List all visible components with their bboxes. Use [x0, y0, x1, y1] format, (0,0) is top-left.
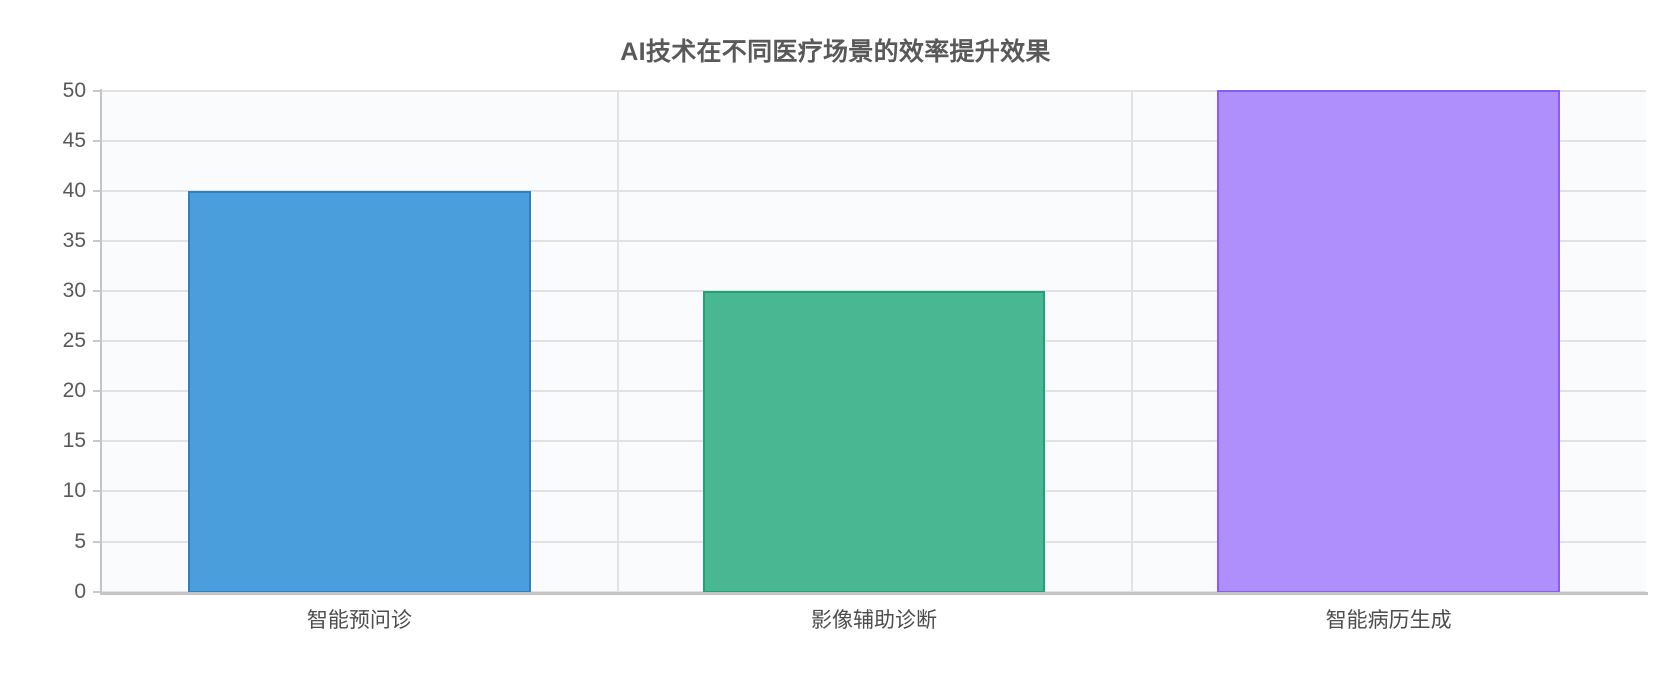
x-axis-spine [100, 592, 1648, 595]
y-tick-label-45: 45 [26, 130, 86, 151]
y-tick-mark-25 [93, 340, 101, 342]
plot-area [102, 90, 1646, 593]
y-tick-label-15: 15 [26, 430, 86, 451]
y-tick-mark-15 [93, 440, 101, 442]
x-tick-label-2: 智能病历生成 [1189, 604, 1589, 634]
bar-0[interactable] [188, 191, 531, 593]
chart-figure: AI技术在不同医疗场景的效率提升效果 效率提升百分比(%) 0 5 10 [0, 0, 1671, 685]
y-tick-mark-35 [93, 240, 101, 242]
y-tick-label-10: 10 [26, 480, 86, 501]
y-tick-label-50: 50 [26, 80, 86, 101]
bar-2[interactable] [1217, 90, 1560, 593]
gridline-x-2 [1131, 90, 1133, 593]
y-tick-mark-0 [93, 591, 101, 593]
x-tick-label-1: 影像辅助诊断 [674, 604, 1074, 634]
x-tick-label-0: 智能预问诊 [159, 604, 559, 634]
y-tick-label-25: 25 [26, 330, 86, 351]
y-tick-mark-30 [93, 290, 101, 292]
gridline-x-1 [617, 90, 619, 593]
bar-1[interactable] [703, 291, 1046, 593]
y-tick-mark-20 [93, 390, 101, 392]
y-tick-mark-50 [93, 90, 101, 92]
y-tick-label-5: 5 [26, 531, 86, 552]
y-tick-mark-5 [93, 541, 101, 543]
y-tick-label-30: 30 [26, 280, 86, 301]
y-tick-label-40: 40 [26, 180, 86, 201]
y-tick-label-0: 0 [26, 581, 86, 602]
y-tick-label-35: 35 [26, 230, 86, 251]
y-tick-mark-10 [93, 490, 101, 492]
chart-title: AI技术在不同医疗场景的效率提升效果 [0, 32, 1671, 68]
y-tick-label-20: 20 [26, 380, 86, 401]
y-tick-mark-40 [93, 190, 101, 192]
y-tick-mark-45 [93, 140, 101, 142]
